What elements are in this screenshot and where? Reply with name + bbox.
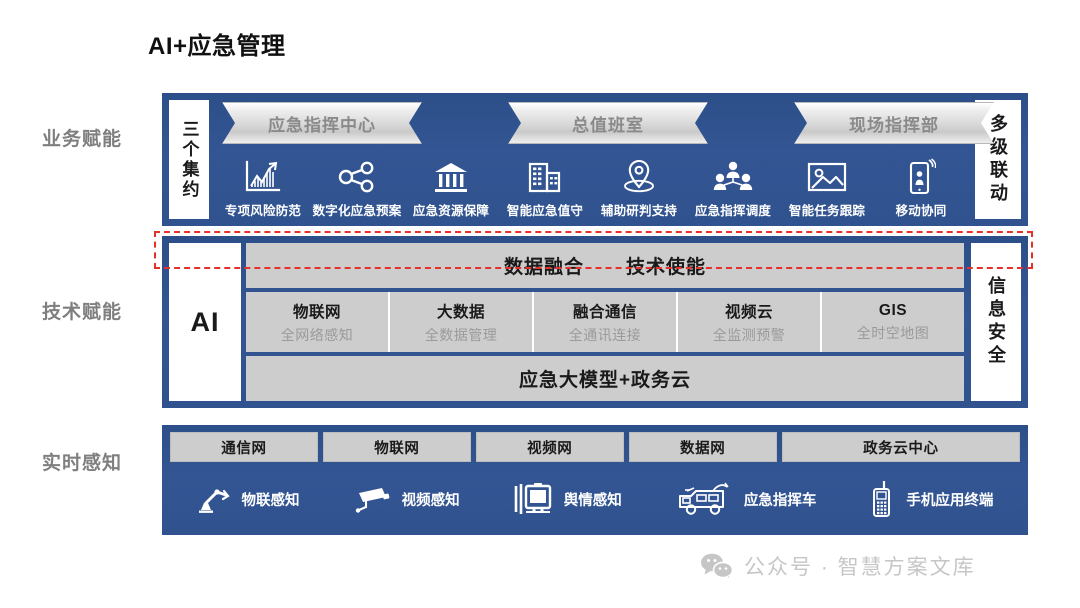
business-icon-label: 专项风险防范 (225, 200, 301, 219)
tech-column-title: 大数据 (437, 300, 485, 322)
tech-column-iot[interactable]: 物联网 全网络感知 (246, 292, 390, 352)
business-icon-item[interactable]: 专项风险防范 (216, 157, 310, 219)
business-icon-label: 数字化应急预案 (313, 200, 402, 219)
watermark-text: 公众号 · 智慧方案文库 (744, 551, 976, 581)
office-buildings-icon (526, 157, 564, 197)
pill-general-duty-office[interactable]: 总值班室 (508, 102, 708, 144)
business-icon-item[interactable]: 应急指挥调度 (686, 157, 780, 219)
wechat-icon (700, 553, 734, 579)
tech-top-label-data-fusion: 数据融合 (504, 252, 584, 279)
realtime-sensing-band: 通信网 物联网 视频网 数据网 政务云中心 (162, 425, 1028, 535)
tech-column-bigdata[interactable]: 大数据 全数据管理 (390, 292, 534, 352)
pill-onsite-command-post[interactable]: 现场指挥部 (794, 102, 994, 144)
side-cap-three-consolidations: 三个集约 (169, 100, 209, 219)
tech-column-title: 视频云 (725, 300, 773, 322)
business-enablement-band: 三个集约 多级联动 应急指挥中心 总值班室 现场指挥部 (162, 93, 1028, 226)
row-label-realtime-sensing: 实时感知 (42, 448, 122, 475)
business-icon-label: 智能应急值守 (507, 200, 583, 219)
sensing-icon-item[interactable]: 手机应用终端 (869, 480, 993, 518)
business-icon-label: 应急指挥调度 (695, 200, 771, 219)
pill-government-cloud-center[interactable]: 政务云中心 (782, 432, 1020, 462)
diagram-canvas: AI+应急管理 业务赋能 技术赋能 实时感知 三个集约 多级联动 应急指挥中心 … (0, 0, 1080, 608)
tech-column-video-cloud[interactable]: 视频云 全监测预警 (678, 292, 822, 352)
business-icon-item[interactable]: 辅助研判支持 (592, 157, 686, 219)
monitor-screen-icon (513, 482, 553, 516)
rugged-handset-icon (869, 480, 895, 518)
tech-bottom-bar: 应急大模型+政务云 (246, 356, 964, 401)
business-icon-item[interactable]: 智能应急值守 (498, 157, 592, 219)
map-pin-location-icon (620, 157, 658, 197)
row-label-business: 业务赋能 (42, 124, 122, 151)
sensing-icon-item[interactable]: 视频感知 (353, 485, 460, 513)
cctv-camera-icon (353, 485, 391, 513)
ai-core-box[interactable]: AI (169, 243, 241, 401)
pill-iot-network[interactable]: 物联网 (323, 432, 471, 462)
people-group-icon (713, 157, 753, 197)
bar-chart-arrow-icon (245, 157, 281, 197)
tech-column-subtitle: 全网络感知 (281, 325, 354, 345)
tech-column-title: 融合通信 (573, 300, 637, 322)
pill-data-network[interactable]: 数据网 (629, 432, 777, 462)
business-icon-item[interactable]: 应急资源保障 (404, 157, 498, 219)
tech-column-converged-comm[interactable]: 融合通信 全通讯连接 (534, 292, 678, 352)
sensing-network-pill-row: 通信网 物联网 视频网 数据网 政务云中心 (170, 432, 1020, 462)
business-icon-item[interactable]: 智能任务跟踪 (780, 157, 874, 219)
business-icon-label: 智能任务跟踪 (789, 200, 865, 219)
row-label-technology: 技术赋能 (42, 297, 122, 324)
sensing-icon-label: 应急指挥车 (744, 489, 817, 510)
business-icon-label: 移动协同 (896, 200, 947, 219)
pill-communication-network[interactable]: 通信网 (170, 432, 318, 462)
tech-top-bar: 数据融合 技术使能 (246, 243, 964, 288)
pill-emergency-command-center[interactable]: 应急指挥中心 (222, 102, 422, 144)
sensing-icon-item[interactable]: 舆情感知 (513, 482, 622, 516)
tech-column-subtitle: 全通讯连接 (569, 325, 642, 345)
business-icon-label: 辅助研判支持 (601, 200, 677, 219)
tech-column-row: 物联网 全网络感知 大数据 全数据管理 融合通信 全通讯连接 视频云 全监测预警 (246, 292, 964, 352)
tech-column-title: 物联网 (293, 300, 341, 322)
tech-column-subtitle: 全监测预警 (713, 325, 786, 345)
robot-arm-icon (197, 484, 231, 514)
business-pill-row: 应急指挥中心 总值班室 现场指挥部 (214, 102, 970, 148)
business-icon-item[interactable]: 数字化应急预案 (310, 157, 404, 219)
sensing-icon-label: 视频感知 (402, 489, 460, 510)
business-icon-label: 应急资源保障 (413, 200, 489, 219)
mobile-phone-signal-icon (906, 157, 936, 197)
watermark: 公众号 · 智慧方案文库 (700, 551, 976, 581)
sensing-icon-label: 手机应用终端 (906, 489, 993, 510)
sensing-icon-item[interactable]: 应急指挥车 (675, 481, 817, 517)
side-cap-information-security: 信息安全 (971, 243, 1021, 401)
sensing-icon-item[interactable]: 物联感知 (197, 484, 300, 514)
picture-frame-icon (807, 157, 847, 197)
share-network-icon (338, 157, 376, 197)
technology-enablement-band: 信息安全 AI 数据融合 技术使能 物联网 全网络感知 大数据 全数据管理 (162, 236, 1028, 408)
bank-building-icon (432, 157, 470, 197)
page-title: AI+应急管理 (148, 26, 286, 61)
sensing-icon-label: 舆情感知 (564, 489, 622, 510)
tech-column-subtitle: 全时空地图 (857, 323, 930, 343)
tech-column-gis[interactable]: GIS 全时空地图 (822, 292, 964, 352)
pill-video-network[interactable]: 视频网 (476, 432, 624, 462)
command-vehicle-icon (675, 481, 733, 517)
tech-column-title: GIS (879, 302, 907, 320)
tech-top-label-tech-enablement: 技术使能 (626, 252, 706, 279)
sensing-icon-row: 物联感知 视频感知 (170, 470, 1020, 528)
business-icon-row: 专项风险防范 数字化应急预案 (214, 150, 970, 219)
business-icon-item[interactable]: 移动协同 (874, 157, 968, 219)
sensing-icon-label: 物联感知 (242, 489, 300, 510)
tech-column-subtitle: 全数据管理 (425, 325, 498, 345)
